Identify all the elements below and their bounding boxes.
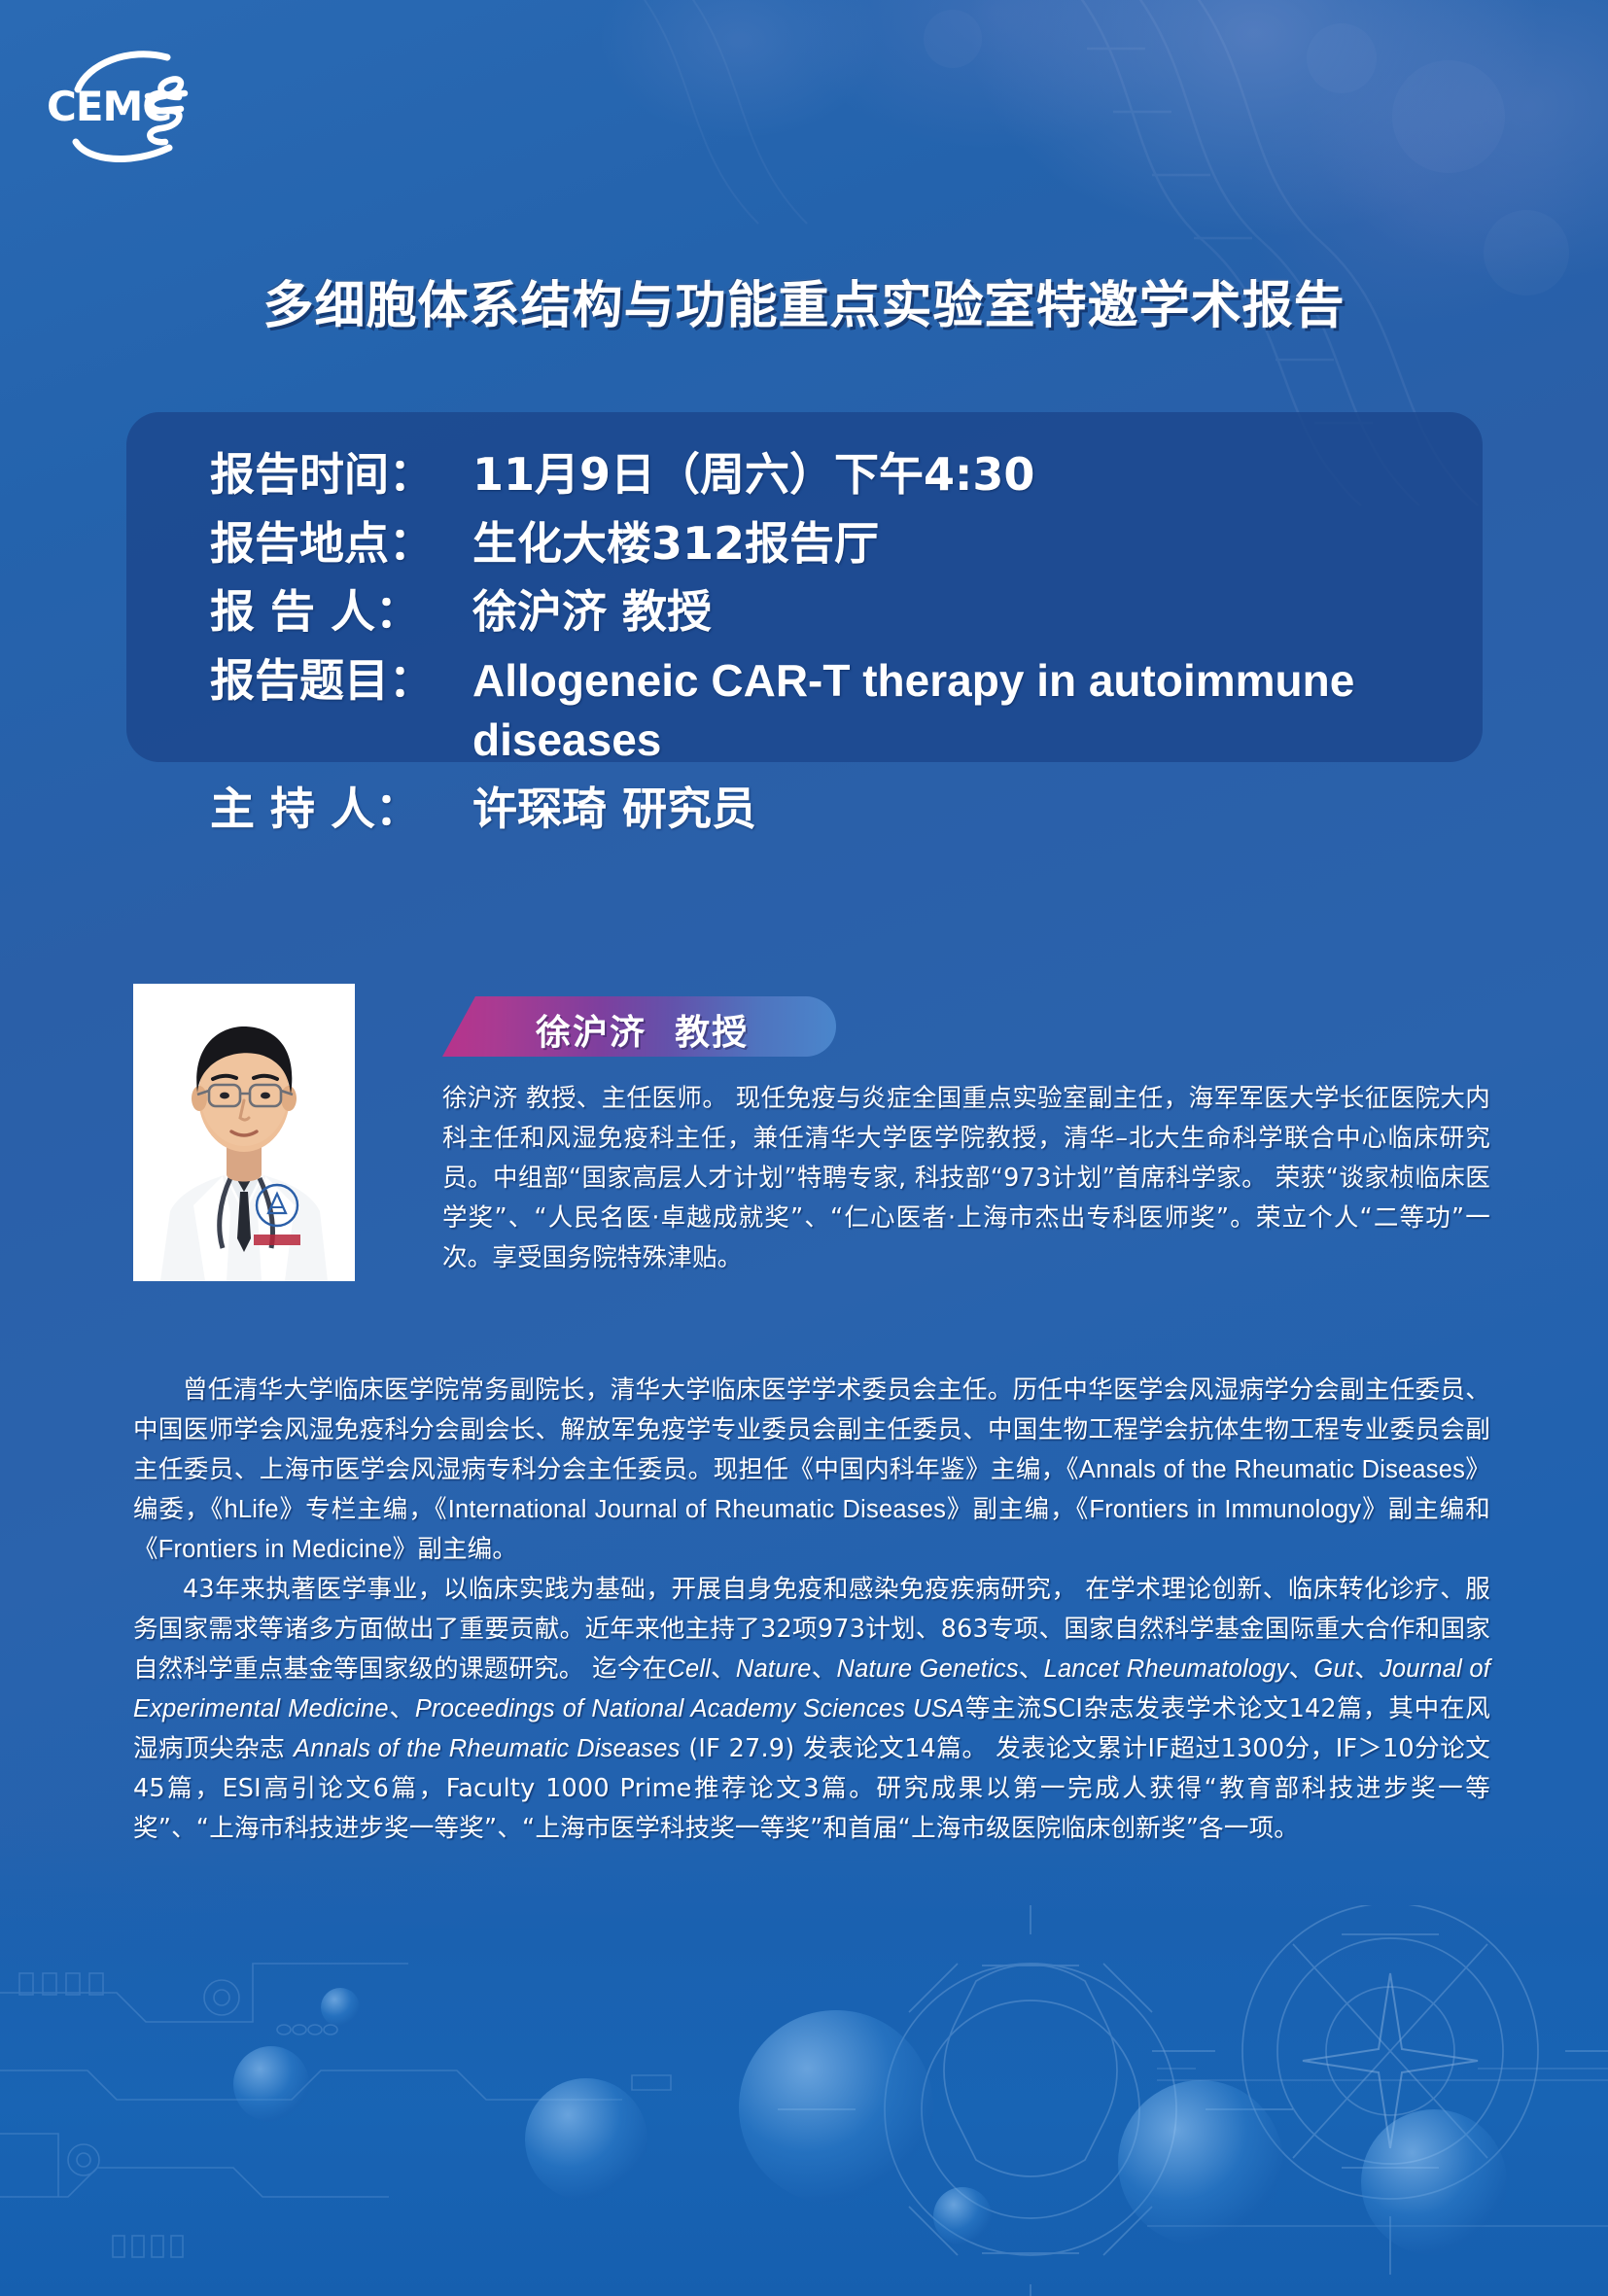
event-info-value: 许琛琦 研究员 [472, 780, 1444, 839]
speaker-name-banner: 徐沪济 教授 [442, 996, 836, 1057]
event-info-row: 报告题目：Allogeneic CAR-T therapy in autoimm… [210, 651, 1444, 769]
bio-p2-run: Frontiers in Medicine [158, 1536, 393, 1563]
bio-p3-run: 、 [1019, 1654, 1044, 1684]
background-bubbles [0, 1944, 1608, 2296]
speaker-bio-paragraph-2: 曾任清华大学临床医学院常务副院长，清华大学临床医学学术委员会主任。历任中华医学会… [133, 1371, 1490, 1570]
event-info-value: 11月9日（周六）下午4:30 [472, 445, 1444, 504]
event-info-label: 报 告 人： [210, 582, 472, 642]
speaker-photo [133, 984, 355, 1281]
event-info-rows: 报告时间：11月9日（周六）下午4:30报告地点：生化大楼312报告厅报 告 人… [210, 445, 1444, 848]
event-info-row: 主 持 人：许琛琦 研究员 [210, 780, 1444, 839]
bio-p2-run: International Journal of Rheumatic Disea… [448, 1496, 946, 1523]
bio-p3-run: 、 [812, 1654, 837, 1684]
event-info-value: 生化大楼312报告厅 [472, 514, 1444, 574]
cemc-logo: CEMC [39, 41, 248, 167]
bio-p3-run: Annals of the Rheumatic Diseases [294, 1735, 681, 1762]
speaker-bio-paragraph-3: 43年来执著医学事业，以临床实践为基础，开展自身免疫和感染免疫疾病研究， 在学术… [133, 1570, 1490, 1849]
bio-p2-run: hLife [224, 1496, 278, 1523]
bio-p3-run: 、 [1354, 1654, 1380, 1684]
event-info-value: 徐沪济 教授 [472, 582, 1444, 642]
background-tech-circuit-art [0, 1905, 1608, 2296]
bio-p3-run: Proceedings of National Academy Sciences… [415, 1695, 964, 1722]
speaker-name-banner-text: 徐沪济 教授 [536, 1004, 749, 1055]
speaker-bio-body: 曾任清华大学临床医学院常务副院长，清华大学临床医学学术委员会主任。历任中华医学会… [133, 1371, 1490, 1849]
bio-p2-run: 》副主编。 [393, 1535, 518, 1564]
background-bottom-gradient [0, 1827, 1608, 2296]
bio-p3-run: Cell [667, 1655, 711, 1683]
bio-p3-run: Nature Genetics [836, 1655, 1018, 1683]
event-info-label: 报告题目： [210, 651, 472, 711]
event-info-card: 报告时间：11月9日（周六）下午4:30报告地点：生化大楼312报告厅报 告 人… [126, 412, 1483, 762]
page-title: 多细胞体系结构与功能重点实验室特邀学术报告 [0, 264, 1608, 337]
bio-p2-run: Annals of the Rheumatic Diseases [1079, 1456, 1465, 1483]
event-info-row: 报告时间：11月9日（周六）下午4:30 [210, 445, 1444, 504]
bio-p3-run: Nature [736, 1655, 812, 1683]
bio-p2-run: 》副主编，《 [946, 1495, 1089, 1524]
bio-p3-run: 、 [711, 1654, 736, 1684]
bio-p3-run: 、 [1289, 1654, 1314, 1684]
poster-root: CEMC 多细胞体系结构与功能重点实验室特邀学术报告 报告时间：11月9日（周六… [0, 0, 1608, 2296]
speaker-bio-paragraph-1: 徐沪济 教授、主任医师。 现任免疫与炎症全国重点实验室副主任，海军军医大学长征医… [442, 1079, 1490, 1278]
event-info-label: 报告地点： [210, 514, 472, 574]
bio-p3-run: Lancet Rheumatology [1044, 1655, 1289, 1683]
event-info-row: 报 告 人：徐沪济 教授 [210, 582, 1444, 642]
event-info-label: 报告时间： [210, 445, 472, 504]
event-info-label: 主 持 人： [210, 780, 472, 839]
bio-p2-run: Frontiers in Immunology [1089, 1496, 1361, 1523]
bio-p2-run: 》专栏主编，《 [279, 1495, 448, 1524]
bio-p3-run: Gut [1313, 1655, 1354, 1683]
bio-p3-run: 、 [389, 1694, 415, 1723]
event-info-value: Allogeneic CAR-T therapy in autoimmune d… [472, 651, 1444, 769]
event-info-row: 报告地点：生化大楼312报告厅 [210, 514, 1444, 574]
